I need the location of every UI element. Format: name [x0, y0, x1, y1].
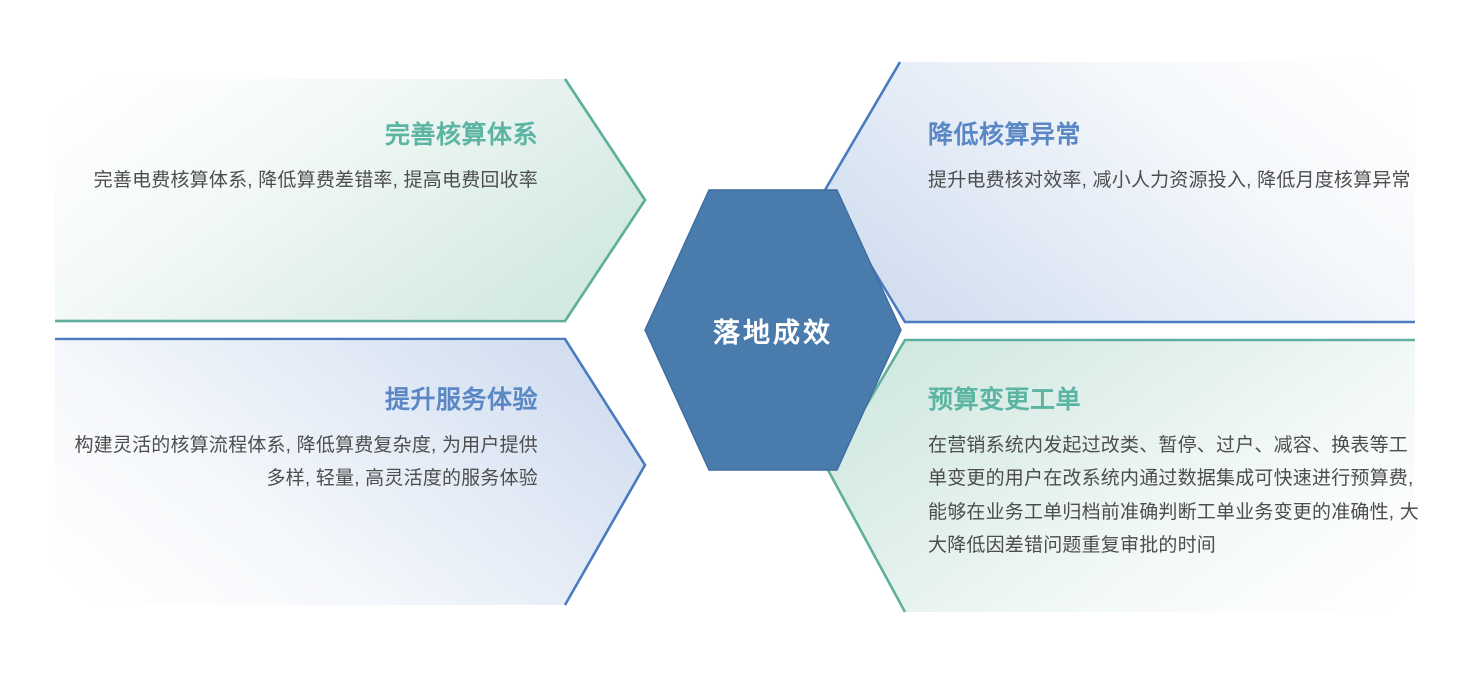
quadrant-bottom-left: 提升服务体验 构建灵活的核算流程体系, 降低算费复杂度, 为用户提供多样, 轻量… — [60, 385, 538, 496]
quadrant-bottom-right-title: 预算变更工单 — [928, 385, 1420, 415]
quadrant-bottom-left-title: 提升服务体验 — [60, 385, 538, 415]
hexagon-chevron-artwork — [0, 0, 1477, 678]
quadrant-top-right-body: 提升电费核对效率, 减小人力资源投入, 降低月度核算异常 — [928, 164, 1418, 197]
quadrant-top-left-body: 完善电费核算体系, 降低算费差错率, 提高电费回收率 — [60, 164, 538, 197]
chevron-top-left-fill — [55, 79, 645, 319]
quadrant-top-right: 降低核算异常 提升电费核对效率, 减小人力资源投入, 降低月度核算异常 — [928, 120, 1418, 197]
quadrant-top-right-title: 降低核算异常 — [928, 120, 1418, 150]
quadrant-bottom-right: 预算变更工单 在营销系统内发起过改类、暂停、过户、减容、换表等工单变更的用户在改… — [928, 385, 1420, 562]
diagram-canvas: 落地成效 完善核算体系 完善电费核算体系, 降低算费差错率, 提高电费回收率 降… — [0, 0, 1477, 678]
quadrant-top-left-title: 完善核算体系 — [60, 120, 538, 150]
quadrant-top-left: 完善核算体系 完善电费核算体系, 降低算费差错率, 提高电费回收率 — [60, 120, 538, 197]
quadrant-bottom-right-body: 在营销系统内发起过改类、暂停、过户、减容、换表等工单变更的用户在改系统内通过数据… — [928, 429, 1420, 562]
quadrant-bottom-left-body: 构建灵活的核算流程体系, 降低算费复杂度, 为用户提供多样, 轻量, 高灵活度的… — [60, 429, 538, 496]
